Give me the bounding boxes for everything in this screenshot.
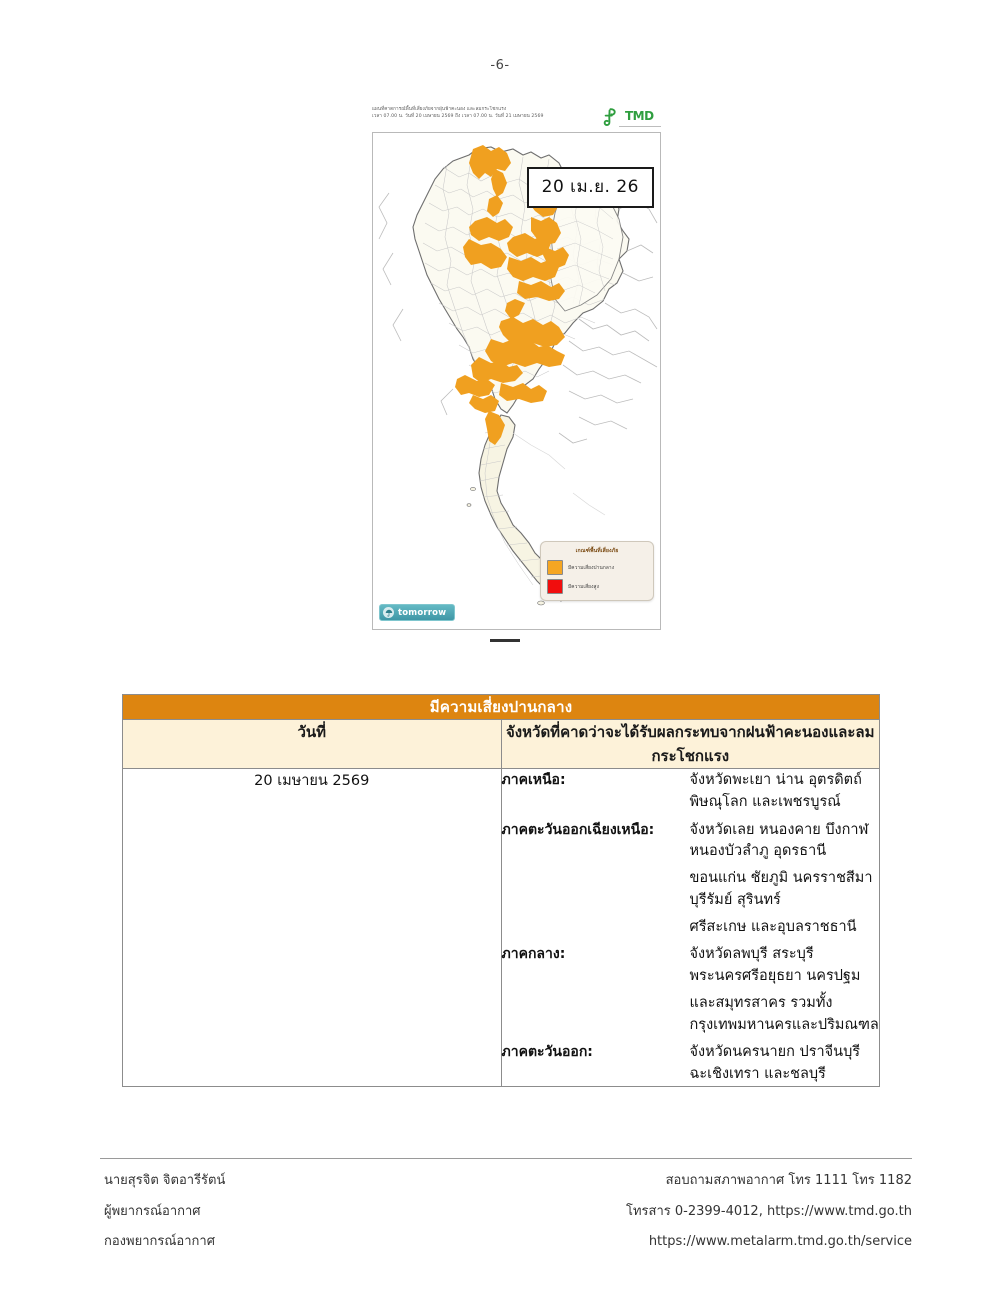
table-header-row: วันที่ จังหวัดที่คาดว่าจะได้รับผลกระทบจา… <box>123 720 880 769</box>
region-provinces-central-2: และสมุทรสาคร รวมทั้งกรุงเทพมหานครและปริม… <box>690 993 880 1037</box>
region-east: ภาคตะวันออก: จังหวัดนครนายก ปราจีนบุรี ฉ… <box>502 1041 880 1086</box>
tmd-swirl-icon <box>599 107 619 131</box>
region-label-northeast: ภาคตะวันออกเฉียงเหนือ: <box>502 819 690 841</box>
region-northeast: ภาคตะวันออกเฉียงเหนือ: จังหวัดเลย หนองคา… <box>502 819 880 864</box>
region-provinces-northeast-2: ขอนแก่น ชัยภูมิ นครราชสีมา บุรีรัมย์ สุร… <box>690 868 880 912</box>
legend-swatch-moderate <box>547 560 563 575</box>
figure-caption: แผนที่คาดการณ์พื้นที่เสี่ยงภัยจากฝุ่นฟ้า… <box>372 106 604 120</box>
table-band-title: มีความเสี่ยงปานกลาง <box>123 695 880 720</box>
region-provinces-northeast-3: ศรีสะเกษ และอุบลราชธานี <box>690 917 880 939</box>
region-provinces-east: จังหวัดนครนายก ปราจีนบุรี ฉะเชิงเทรา และ… <box>690 1042 880 1086</box>
legend-label-moderate: มีความเสี่ยงปานกลาง <box>568 564 614 572</box>
footer-service-url: https://www.metalarm.tmd.go.th/service <box>482 1227 912 1258</box>
tmd-logo-underline <box>619 126 661 127</box>
region-provinces-central-1: จังหวัดลพบุรี สระบุรี พระนครศรีอยุธยา นค… <box>690 944 880 988</box>
footer-left-line-3: กองพยากรณ์อากาศ <box>104 1227 504 1258</box>
column-header-date: วันที่ <box>123 720 502 769</box>
table-row: 20 เมษายน 2569 ภาคเหนือ: จังหวัดพะเยา น่… <box>123 769 880 1087</box>
footer-right-block: สอบถามสภาพอากาศ โทร 1111 โทร 1182 โทรสาร… <box>482 1166 912 1258</box>
forecast-map-figure: แผนที่คาดการณ์พื้นที่เสี่ยงภัยจากฝุ่นฟ้า… <box>372 106 661 636</box>
footer-left-line-2: ผู้พยากรณ์อากาศ <box>104 1197 504 1228</box>
cell-date: 20 เมษายน 2569 <box>123 769 502 1087</box>
column-header-provinces: จังหวัดที่คาดว่าจะได้รับผลกระทบจากฝนฟ้าค… <box>501 720 880 769</box>
region-label-east: ภาคตะวันออก: <box>502 1041 690 1063</box>
footer-left-block: นายสุรจิต จิตอารีรัตน์ ผู้พยากรณ์อากาศ ก… <box>104 1166 504 1258</box>
region-label-central: ภาคกลาง: <box>502 943 690 965</box>
map-scale-bar <box>490 639 520 642</box>
region-provinces-north: จังหวัดพะเยา น่าน อุตรดิตถ์ พิษณุโลก และ… <box>690 770 880 814</box>
region-central: ภาคกลาง: จังหวัดลพบุรี สระบุรี พระนครศรี… <box>502 943 880 988</box>
region-provinces-northeast-1: จังหวัดเลย หนองคาย บึงกาฬ หนองบัวลำภู อุ… <box>690 820 880 864</box>
footer-contact-fax-site: โทรสาร 0-2399-4012, https://www.tmd.go.t… <box>482 1197 912 1228</box>
tmd-logo: TMD <box>599 106 661 128</box>
tmd-logo-text: TMD <box>625 109 654 123</box>
tomorrow-badge: tomorrow <box>379 604 455 621</box>
region-label-north: ภาคเหนือ: <box>502 769 690 791</box>
footer-contact-phone: สอบถามสภาพอากาศ โทร 1111 โทร 1182 <box>482 1166 912 1197</box>
map-date-badge: 20 เม.ย. 26 <box>527 167 654 208</box>
page-number: -6- <box>0 58 1000 73</box>
legend-label-high: มีความเสี่ยงสูง <box>568 583 599 591</box>
tomorrow-badge-label: tomorrow <box>398 608 446 618</box>
legend-item-moderate: มีความเสี่ยงปานกลาง <box>547 560 647 575</box>
risk-forecast-table: มีความเสี่ยงปานกลาง วันที่ จังหวัดที่คาด… <box>122 694 880 1087</box>
document-page: -6- แผนที่คาดการณ์พื้นที่เสี่ยงภัยจากฝุ่… <box>0 0 1000 1294</box>
table-band-row: มีความเสี่ยงปานกลาง <box>123 695 880 720</box>
legend-swatch-high <box>547 579 563 594</box>
map-water-lines <box>513 433 605 515</box>
region-north: ภาคเหนือ: จังหวัดพะเยา น่าน อุตรดิตถ์ พิ… <box>502 769 880 814</box>
legend-title: เกณฑ์พื้นที่เสี่ยงภัย <box>547 547 647 555</box>
umbrella-icon <box>383 607 394 618</box>
cell-provinces: ภาคเหนือ: จังหวัดพะเยา น่าน อุตรดิตถ์ พิ… <box>501 769 880 1087</box>
legend-item-high: มีความเสี่ยงสูง <box>547 579 647 594</box>
thailand-risk-map: 20 เม.ย. 26 เกณฑ์พื้นที่เสี่ยงภัย มีความ… <box>372 132 661 630</box>
map-legend: เกณฑ์พื้นที่เสี่ยงภัย มีความเสี่ยงปานกลา… <box>540 541 654 601</box>
footer-left-line-1: นายสุรจิต จิตอารีรัตน์ <box>104 1166 504 1197</box>
footer-divider <box>100 1158 912 1159</box>
